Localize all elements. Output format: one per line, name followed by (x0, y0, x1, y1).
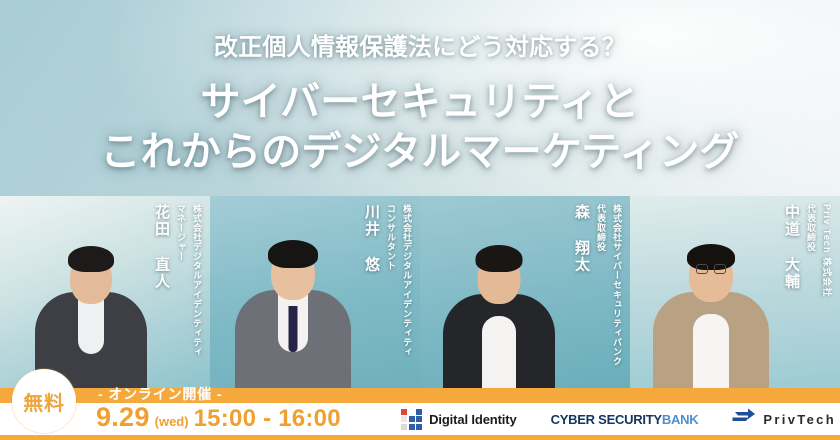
banner-title-line2: これからのデジタルマーケティング (0, 127, 840, 177)
tshirt (482, 316, 516, 388)
hair (268, 240, 318, 268)
banner-subtitle: 改正個人情報保護法にどう対応する？ (0, 34, 840, 63)
banner-title: サイバーセキュリティと これからのデジタルマーケティング (0, 77, 840, 177)
sponsor-logos: Digital Identity CYBER SECURITYBANK Priv… (401, 405, 836, 433)
event-day-of-week: (wed) (155, 414, 189, 429)
speaker-role-2: コンサルタント (385, 204, 398, 271)
speaker-labels-3: 株式会社サイバーセキュリティバンク 代表取締役 森 翔太 (569, 204, 624, 366)
speaker-company-3: 株式会社サイバーセキュリティバンク (611, 204, 624, 366)
speaker-company-1: 株式会社デジタルアイデンティティ (191, 204, 204, 357)
speaker-role-4: 代表取締役 (805, 204, 818, 252)
free-badge: 無料 (12, 369, 76, 433)
privtech-arrow-icon (732, 408, 756, 430)
event-time: 15:00 - 16:00 (194, 405, 341, 433)
privtech-label: PrivTech (763, 412, 836, 427)
eyeglasses-icon (695, 262, 727, 274)
speaker-name-2: 川井 悠 (359, 204, 382, 273)
dress-shirt (78, 296, 104, 354)
csb-label-light: BANK (662, 412, 699, 427)
logo-privtech: PrivTech (732, 408, 836, 430)
speaker-name-3: 森 翔太 (569, 204, 592, 273)
event-format-label: - オンライン開催 - (98, 384, 222, 404)
speaker-portrait-1 (31, 228, 151, 388)
speaker-company-2: 株式会社デジタルアイデンティティ (401, 204, 414, 357)
speaker-labels-4: Priv Tech 株式会社 代表取締役 中道 大輔 (779, 204, 834, 297)
speaker-company-4: Priv Tech 株式会社 (821, 204, 834, 297)
speaker-labels-2: 株式会社デジタルアイデンティティ コンサルタント 川井 悠 (359, 204, 414, 357)
speaker-name-1: 花田 直人 (149, 204, 172, 290)
event-datetime: 9.29 (wed) 15:00 - 16:00 (96, 402, 341, 433)
logo-digital-identity: Digital Identity (401, 409, 516, 430)
speaker-photo-strip: 株式会社デジタルアイデンティティ マネージャー 花田 直人 株式会社デジタルアイ… (0, 196, 840, 388)
digital-identity-grid-icon (401, 409, 422, 430)
event-date: 9.29 (96, 402, 150, 433)
speaker-photo-1: 株式会社デジタルアイデンティティ マネージャー 花田 直人 (0, 196, 210, 388)
hair (476, 245, 523, 272)
hair (68, 246, 114, 272)
speaker-portrait-3 (439, 228, 559, 388)
free-badge-label: 無料 (23, 387, 65, 416)
webinar-banner: 改正個人情報保護法にどう対応する？ サイバーセキュリティと これからのデジタルマ… (0, 0, 840, 440)
tshirt (693, 314, 729, 388)
cyber-security-bank-label: CYBER SECURITYBANK (551, 412, 699, 427)
speaker-name-4: 中道 大輔 (779, 204, 802, 290)
speaker-portrait-2 (233, 223, 353, 388)
necktie (289, 306, 298, 352)
logo-cyber-security-bank: CYBER SECURITYBANK (551, 412, 699, 427)
speaker-portrait-4 (650, 226, 772, 388)
banner-title-line1: サイバーセキュリティと (0, 77, 840, 127)
csb-label-dark: CYBER SECURITY (551, 412, 662, 427)
speaker-labels-1: 株式会社デジタルアイデンティティ マネージャー 花田 直人 (149, 204, 204, 357)
speaker-photo-3: 株式会社サイバーセキュリティバンク 代表取締役 森 翔太 (420, 196, 630, 388)
speaker-role-1: マネージャー (175, 204, 188, 261)
speaker-role-3: 代表取締役 (595, 204, 608, 252)
speaker-photo-2: 株式会社デジタルアイデンティティ コンサルタント 川井 悠 (210, 196, 420, 388)
digital-identity-label: Digital Identity (429, 412, 516, 427)
speaker-photo-4: Priv Tech 株式会社 代表取締役 中道 大輔 (630, 196, 840, 388)
title-block: 改正個人情報保護法にどう対応する？ サイバーセキュリティと これからのデジタルマ… (0, 34, 840, 177)
